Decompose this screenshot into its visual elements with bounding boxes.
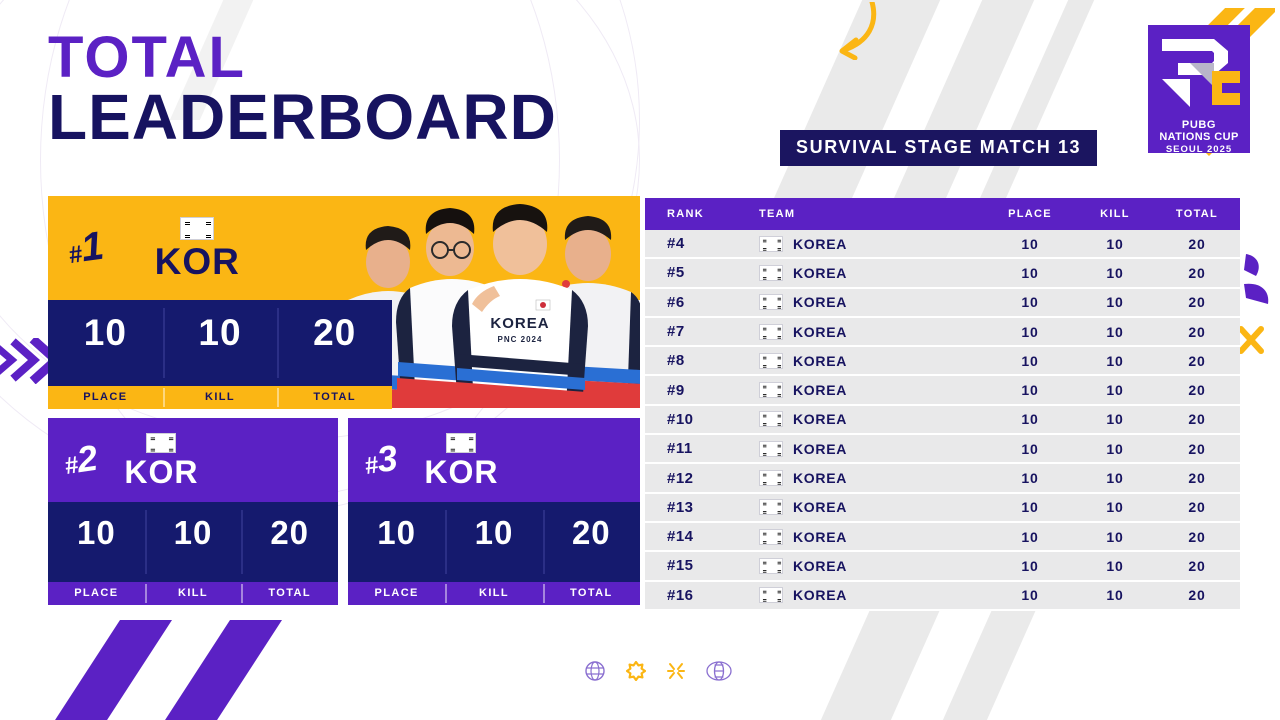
row-place: 10: [984, 324, 1076, 340]
row-rank: #16: [645, 587, 737, 604]
row-rank: #10: [645, 411, 737, 428]
kr-flag-icon: [180, 217, 214, 240]
card3-labels: PLACE KILL TOTAL: [348, 582, 640, 605]
row-kill: 10: [1076, 411, 1154, 427]
title-line-total: TOTAL: [48, 30, 557, 86]
card2-stat-place: 10: [48, 502, 145, 582]
table-row[interactable]: #11KOREA101020: [645, 435, 1240, 464]
row-place: 10: [984, 382, 1076, 398]
row-team-name: KOREA: [793, 294, 847, 310]
title-line-leaderboard: LEADERBOARD: [48, 86, 557, 149]
card3-label-total: TOTAL: [543, 582, 640, 605]
column-header-total: TOTAL: [1154, 208, 1240, 220]
row-rank: #6: [645, 294, 737, 311]
card1-stat-place: 10: [48, 300, 163, 386]
card1-kill-value: 10: [163, 314, 278, 351]
card3-rank-badge: # 3: [361, 437, 399, 483]
table-row[interactable]: #6KOREA101020: [645, 289, 1240, 318]
card1-rank-badge: # 1: [65, 223, 106, 272]
leaderboard-table: RANK TEAM PLACE KILL TOTAL #4KOREA101020…: [645, 198, 1240, 611]
row-kill: 10: [1076, 587, 1154, 603]
kr-flag-icon: [759, 470, 783, 486]
row-place: 10: [984, 499, 1076, 515]
kr-flag-icon: [759, 382, 783, 398]
footer-icon-row: [584, 660, 732, 682]
oval-globe-icon: [706, 660, 732, 682]
card3-stat-total: 20: [543, 502, 640, 582]
row-rank: #8: [645, 352, 737, 369]
row-total: 20: [1154, 470, 1240, 486]
row-team-name: KOREA: [793, 324, 847, 340]
card3-stat-place: 10: [348, 502, 445, 582]
globe-icon: [584, 660, 606, 682]
row-total: 20: [1154, 558, 1240, 574]
page-title: TOTAL LEADERBOARD: [48, 30, 557, 148]
card3-total-value: 20: [543, 516, 640, 549]
card3-label-kill: KILL: [445, 582, 542, 605]
card1-stat-total: 20: [277, 300, 392, 386]
card1-place-value: 10: [48, 314, 163, 351]
logo-line-seoul: SEOUL 2025: [1156, 144, 1242, 156]
card2-total-value: 20: [241, 516, 338, 549]
card1-stats: 10 10 20: [48, 300, 392, 386]
rank-number: 2: [74, 437, 99, 481]
table-row[interactable]: #8KOREA101020: [645, 347, 1240, 376]
pnc-monogram-icon: [1156, 33, 1242, 113]
row-team-name: KOREA: [793, 470, 847, 486]
card1-label-place: PLACE: [48, 386, 163, 409]
table-row[interactable]: #13KOREA101020: [645, 494, 1240, 523]
card2-team-block: KOR: [124, 433, 198, 488]
row-rank: #7: [645, 323, 737, 340]
kr-flag-icon: [146, 433, 176, 453]
podium-card-rank-2[interactable]: # 2 KOR 10: [48, 418, 338, 605]
row-rank: #14: [645, 528, 737, 545]
kr-flag-icon: [759, 441, 783, 457]
card1-header: # 1 KOR: [48, 196, 640, 300]
svg-text:PNC 2024: PNC 2024: [498, 335, 543, 344]
match-badge: SURVIVAL STAGE MATCH 13: [780, 130, 1097, 166]
table-row[interactable]: #14KOREA101020: [645, 523, 1240, 552]
card2-stat-total: 20: [241, 502, 338, 582]
table-row[interactable]: #15KOREA101020: [645, 552, 1240, 581]
table-row[interactable]: #16KOREA101020: [645, 582, 1240, 611]
row-total: 20: [1154, 324, 1240, 340]
kr-flag-icon: [759, 324, 783, 340]
column-header-rank: RANK: [645, 208, 737, 220]
row-place: 10: [984, 529, 1076, 545]
card3-place-value: 10: [348, 516, 445, 549]
row-rank: #12: [645, 470, 737, 487]
row-total: 20: [1154, 353, 1240, 369]
row-kill: 10: [1076, 294, 1154, 310]
kr-flag-icon: [759, 411, 783, 427]
row-kill: 10: [1076, 529, 1154, 545]
card3-header: # 3 KOR: [348, 418, 640, 502]
row-team-name: KOREA: [793, 587, 847, 603]
card2-kill-value: 10: [145, 516, 242, 549]
row-total: 20: [1154, 236, 1240, 252]
row-place: 10: [984, 411, 1076, 427]
column-header-place: PLACE: [984, 208, 1076, 220]
row-rank: #11: [645, 440, 737, 457]
table-row[interactable]: #12KOREA101020: [645, 464, 1240, 493]
row-place: 10: [984, 294, 1076, 310]
flower-burst-icon: [626, 661, 646, 681]
row-kill: 10: [1076, 470, 1154, 486]
row-total: 20: [1154, 265, 1240, 281]
card2-label-place: PLACE: [48, 582, 145, 605]
table-header-row: RANK TEAM PLACE KILL TOTAL: [645, 198, 1240, 230]
card3-kill-value: 10: [445, 516, 542, 549]
row-place: 10: [984, 470, 1076, 486]
card3-team-code: KOR: [424, 456, 498, 488]
row-total: 20: [1154, 294, 1240, 310]
row-kill: 10: [1076, 236, 1154, 252]
row-kill: 10: [1076, 353, 1154, 369]
table-row[interactable]: #7KOREA101020: [645, 318, 1240, 347]
row-rank: #9: [645, 382, 737, 399]
kr-flag-icon: [759, 558, 783, 574]
table-row[interactable]: #5KOREA101020: [645, 259, 1240, 288]
row-team-name: KOREA: [793, 382, 847, 398]
kr-flag-icon: [446, 433, 476, 453]
pnc-logo: PUBG NATIONS CUP SEOUL 2025: [1148, 25, 1250, 153]
kr-flag-icon: [759, 236, 783, 252]
row-team-name: KOREA: [793, 236, 847, 252]
bg-stripe: [979, 0, 1112, 200]
curved-arrow-icon: [822, 2, 882, 60]
row-kill: 10: [1076, 558, 1154, 574]
row-team-name: KOREA: [793, 499, 847, 515]
row-kill: 10: [1076, 265, 1154, 281]
card1-label-total: TOTAL: [277, 386, 392, 409]
card1-labels: PLACE KILL TOTAL: [48, 386, 392, 409]
row-place: 10: [984, 441, 1076, 457]
table-row[interactable]: #9KOREA101020: [645, 376, 1240, 405]
row-total: 20: [1154, 529, 1240, 545]
sparkle-icon: [666, 661, 686, 681]
card2-place-value: 10: [48, 516, 145, 549]
card2-label-total: TOTAL: [241, 582, 338, 605]
row-rank: #5: [645, 264, 737, 281]
svg-text:KOREA: KOREA: [490, 315, 549, 332]
row-place: 10: [984, 558, 1076, 574]
column-header-kill: KILL: [1076, 208, 1154, 220]
row-team-name: KOREA: [793, 529, 847, 545]
kr-flag-icon: [759, 353, 783, 369]
row-total: 20: [1154, 382, 1240, 398]
row-rank: #15: [645, 557, 737, 574]
card3-label-place: PLACE: [348, 582, 445, 605]
row-kill: 10: [1076, 499, 1154, 515]
card3-team-block: KOR: [424, 433, 498, 488]
row-rank: #4: [645, 235, 737, 252]
card2-label-kill: KILL: [145, 582, 242, 605]
row-total: 20: [1154, 587, 1240, 603]
row-total: 20: [1154, 441, 1240, 457]
row-team-name: KOREA: [793, 265, 847, 281]
row-kill: 10: [1076, 441, 1154, 457]
kr-flag-icon: [759, 499, 783, 515]
podium-card-rank-3[interactable]: # 3 KOR 10: [348, 418, 640, 605]
card3-stat-kill: 10: [445, 502, 542, 582]
card2-stat-kill: 10: [145, 502, 242, 582]
row-kill: 10: [1076, 382, 1154, 398]
table-body: #4KOREA101020#5KOREA101020#6KOREA101020#…: [645, 230, 1240, 611]
row-place: 10: [984, 587, 1076, 603]
kr-flag-icon: [759, 265, 783, 281]
row-place: 10: [984, 353, 1076, 369]
x-mark-icon: [1236, 325, 1266, 355]
card1-total-value: 20: [277, 314, 392, 351]
card1-team-block: KOR: [155, 217, 240, 280]
card2-team-code: KOR: [124, 456, 198, 488]
table-row[interactable]: #4KOREA101020: [645, 230, 1240, 259]
purple-accent-shape: [1240, 252, 1280, 318]
card2-labels: PLACE KILL TOTAL: [48, 582, 338, 605]
purple-diagonal-stripe: [36, 620, 172, 720]
card2-header: # 2 KOR: [48, 418, 338, 502]
row-place: 10: [984, 236, 1076, 252]
row-kill: 10: [1076, 324, 1154, 340]
row-team-name: KOREA: [793, 353, 847, 369]
kr-flag-icon: [759, 587, 783, 603]
kr-flag-icon: [759, 294, 783, 310]
logo-line-nations-cup: NATIONS CUP: [1156, 132, 1242, 144]
row-team-name: KOREA: [793, 441, 847, 457]
kr-flag-icon: [759, 529, 783, 545]
podium-card-rank-1[interactable]: # 1 KOR: [48, 196, 640, 409]
card1-label-kill: KILL: [163, 386, 278, 409]
table-row[interactable]: #10KOREA101020: [645, 406, 1240, 435]
row-team-name: KOREA: [793, 558, 847, 574]
card2-rank-badge: # 2: [61, 437, 99, 483]
card3-stats: 10 10 20: [348, 502, 640, 582]
row-place: 10: [984, 265, 1076, 281]
row-total: 20: [1154, 411, 1240, 427]
row-rank: #13: [645, 499, 737, 516]
card1-team-code: KOR: [155, 243, 240, 280]
card2-stats: 10 10 20: [48, 502, 338, 582]
row-total: 20: [1154, 499, 1240, 515]
column-header-team: TEAM: [737, 208, 984, 220]
purple-diagonal-stripe: [146, 620, 282, 720]
card1-stat-kill: 10: [163, 300, 278, 386]
row-team-name: KOREA: [793, 411, 847, 427]
